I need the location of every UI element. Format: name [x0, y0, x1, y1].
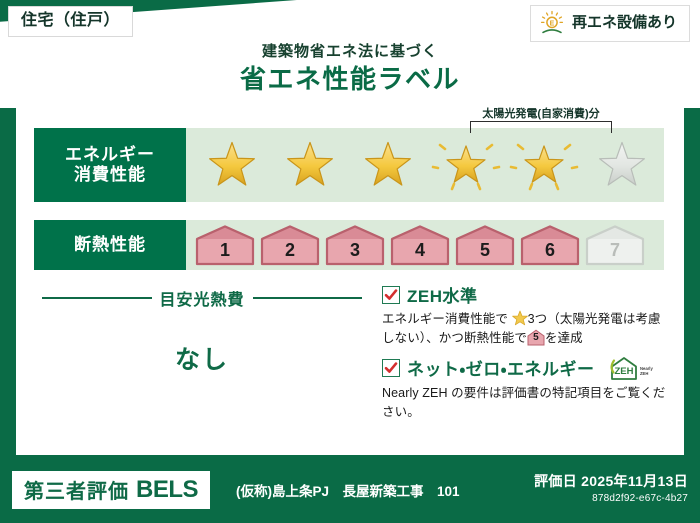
energy-label-line2: 消費性能	[34, 165, 186, 185]
bels-jp-text: 第三者評価	[24, 475, 129, 504]
insulation-performance-row: 断熱性能 1234567	[34, 220, 664, 270]
zeh-block: ZEH水準 エネルギー消費性能で 3つ（太陽光発電は考慮しない）、かつ断熱性能で…	[382, 282, 672, 429]
insulation-chip-filled: 6	[519, 224, 581, 266]
label-footer: 第三者評価 BELS (仮称)島上条PJ 長屋新築工事 101 評価日 2025…	[0, 461, 700, 523]
energy-performance-label-tag: エネルギー 消費性能	[34, 128, 186, 202]
zeh-desc-part3: を達成	[545, 331, 583, 345]
zeh-standard-description: エネルギー消費性能で 3つ（太陽光発電は考慮しない）、かつ断熱性能で 5 を達成	[382, 310, 672, 349]
zeh-net-zero-header: ネット・ゼロ・エネルギー ZEH Nearly ZEH	[382, 355, 672, 381]
insulation-chip-value: 7	[584, 240, 646, 261]
project-name: (仮称)島上条PJ 長屋新築工事 101	[236, 480, 460, 500]
insulation-chip-value: 4	[389, 240, 451, 261]
energy-performance-label: 住宅（住戸） E 再エネ設備あり 建築物省エネ法に基づく	[0, 0, 700, 523]
evaluation-date: 評価日 2025年11月13日	[534, 471, 688, 491]
insulation-performance-label-tag: 断熱性能	[34, 220, 186, 270]
renewable-badge-text: 再エネ設備あり	[572, 15, 677, 32]
insulation-chip-inline-value: 5	[527, 330, 545, 346]
renewable-energy-badge: E 再エネ設備あり	[530, 5, 690, 42]
insulation-level-chips: 1234567	[194, 224, 646, 266]
star-icon-inline	[512, 310, 528, 326]
insulation-chip-inline: 5	[527, 329, 545, 346]
solar-bracket-line	[470, 121, 612, 133]
zeh-item-standard: ZEH水準 エネルギー消費性能で 3つ（太陽光発電は考慮しない）、かつ断熱性能で…	[382, 282, 672, 349]
evaluation-info: 評価日 2025年11月13日 878d2f92-e67c-4b27	[534, 471, 688, 504]
insulation-chip-value: 1	[194, 240, 256, 261]
rule-right	[253, 297, 363, 299]
svg-text:ZEH: ZEH	[614, 366, 633, 377]
utility-cost-header: 目安光熱費	[42, 286, 362, 310]
sun-solar-icon: E	[539, 10, 565, 36]
insulation-chip-value: 3	[324, 240, 386, 261]
solar-contribution-bracket: 太陽光発電(自家消費)分	[460, 106, 622, 140]
insulation-rating-area: 1234567	[186, 220, 664, 270]
star-filled	[428, 137, 504, 193]
building-type-text: 住宅（住戸）	[21, 12, 120, 29]
checkbox-zeh-net-zero[interactable]	[382, 359, 400, 377]
zeh-net-zero-title: ネット・ゼロ・エネルギー	[407, 355, 595, 380]
label-body: エネルギー 消費性能 太陽光発電(自家消費)分 断熱性能 1234567 目安	[16, 100, 684, 455]
zeh-standard-title: ZEH水準	[407, 282, 478, 307]
insulation-chip-filled: 5	[454, 224, 516, 266]
zeh-net-zero-description: Nearly ZEH の要件は評価書の特記項目をご覧ください。	[382, 384, 672, 423]
star-rating	[194, 137, 660, 193]
evaluation-id: 878d2f92-e67c-4b27	[534, 493, 688, 504]
star-filled	[272, 137, 348, 193]
star-filled	[350, 137, 426, 193]
zeh-item-net-zero: ネット・ゼロ・エネルギー ZEH Nearly ZEH Nearly ZEH の…	[382, 355, 672, 423]
checkbox-zeh-standard[interactable]	[382, 286, 400, 304]
zeh-house-logo: ZEH Nearly ZEH	[606, 355, 660, 381]
energy-performance-row: エネルギー 消費性能 太陽光発電(自家消費)分	[34, 128, 664, 202]
building-type-tag: 住宅（住戸）	[8, 6, 133, 37]
energy-label-line1: エネルギー	[34, 145, 186, 165]
insulation-chip-filled: 3	[324, 224, 386, 266]
insulation-chip-filled: 1	[194, 224, 256, 266]
insulation-chip-filled: 2	[259, 224, 321, 266]
star-empty	[584, 137, 660, 193]
insulation-chip-value: 6	[519, 240, 581, 261]
utility-cost-title: 目安光熱費	[160, 286, 245, 310]
svg-text:ZEH: ZEH	[640, 371, 648, 376]
star-filled	[194, 137, 270, 193]
zeh-standard-header: ZEH水準	[382, 282, 672, 307]
insulation-chip-empty: 7	[584, 224, 646, 266]
svg-text:E: E	[550, 21, 555, 28]
solar-bracket-caption: 太陽光発電(自家消費)分	[460, 105, 622, 121]
rule-left	[42, 297, 152, 299]
energy-rating-area: 太陽光発電(自家消費)分	[186, 128, 664, 202]
zeh-desc-part1: エネルギー消費性能で	[382, 312, 508, 326]
insulation-chip-filled: 4	[389, 224, 451, 266]
star-filled	[506, 137, 582, 193]
bels-badge: 第三者評価 BELS	[12, 471, 210, 509]
utility-cost-value: なし	[42, 340, 362, 376]
insulation-chip-value: 2	[259, 240, 321, 261]
bels-en-text: BELS	[136, 476, 198, 504]
insulation-chip-value: 5	[454, 240, 516, 261]
utility-cost-block: 目安光熱費 なし	[42, 286, 362, 376]
